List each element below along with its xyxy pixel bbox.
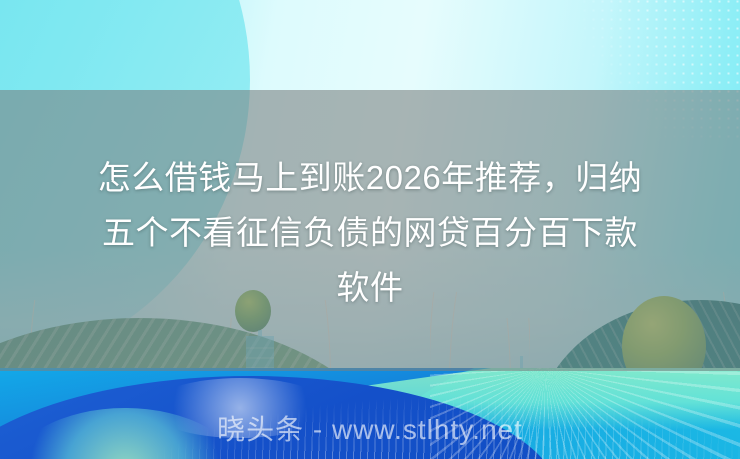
site-watermark: 晓头条 - www.stlhty.net	[0, 408, 740, 448]
promo-banner: 怎么借钱马上到账2026年推荐，归纳 五个不看征信负债的网贷百分百下款 软件 晓…	[0, 0, 740, 459]
page-title: 怎么借钱马上到账2026年推荐，归纳 五个不看征信负债的网贷百分百下款 软件	[0, 150, 740, 315]
